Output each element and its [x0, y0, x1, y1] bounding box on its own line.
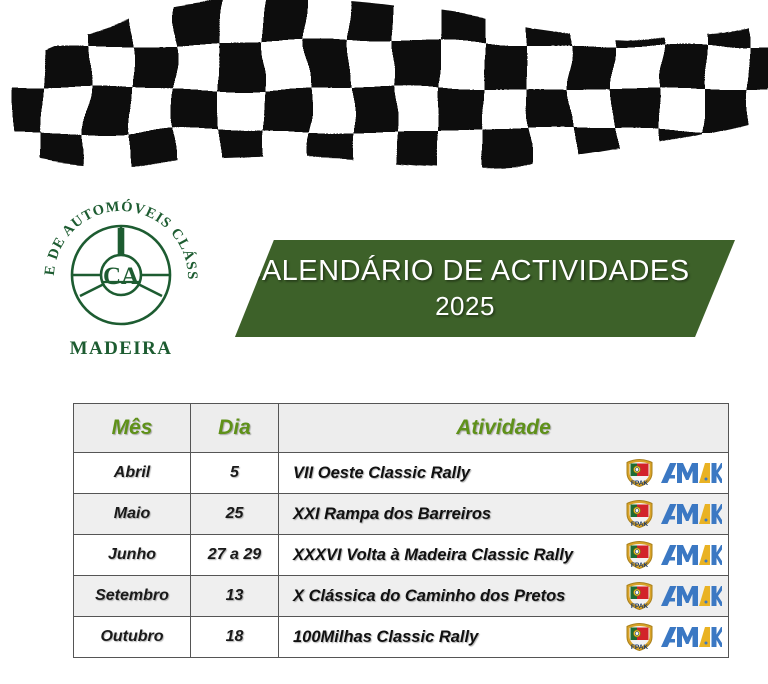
fpak-logo: FPAK: [626, 582, 653, 610]
checkered-flag-icon: [0, 0, 768, 195]
cell-atividade: 100Milhas Classic Rally FPAK: [279, 617, 729, 658]
sanctioning-badges: FPAK: [626, 459, 722, 487]
checkered-flag-banner: [0, 0, 768, 195]
logo-subtitle: MADEIRA: [70, 338, 173, 359]
table-row: Outubro18100Milhas Classic Rally FPAK: [74, 617, 729, 658]
logo-monogram: CA: [103, 263, 139, 290]
cell-mes: Abril: [74, 453, 191, 494]
activity-name: X Clássica do Caminho dos Pretos: [293, 587, 565, 606]
cell-mes: Maio: [74, 494, 191, 535]
table-row: Maio25XXI Rampa dos Barreiros FPAK: [74, 494, 729, 535]
svg-text:FPAK: FPAK: [631, 644, 649, 651]
cell-dia: 25: [191, 494, 279, 535]
activity-row-content: XXI Rampa dos Barreiros FPAK: [293, 500, 722, 528]
fpak-logo: FPAK: [626, 623, 653, 651]
calendar-title-banner: CALENDÁRIO DE ACTIVIDADES 2025: [195, 240, 735, 337]
cell-dia: 18: [191, 617, 279, 658]
clube-automoveis-classicos-madeira-icon: CA CLUBE DE AUTOMÓVEIS CLÁSSICOS MADEIRA: [36, 196, 206, 364]
fpak-logo: FPAK: [626, 541, 653, 569]
sanctioning-badges: FPAK: [626, 623, 722, 651]
activities-table: Mês Dia Atividade Abril5VII Oeste Classi…: [73, 403, 729, 658]
table-row: Junho27 a 29XXXVI Volta à Madeira Classi…: [74, 535, 729, 576]
activity-name: 100Milhas Classic Rally: [293, 628, 478, 647]
cell-atividade: XXI Rampa dos Barreiros FPAK: [279, 494, 729, 535]
activity-row-content: 100Milhas Classic Rally FPAK: [293, 623, 722, 651]
svg-text:FPAK: FPAK: [631, 603, 649, 610]
sanctioning-badges: FPAK: [626, 500, 722, 528]
fpak-logo: FPAK: [626, 500, 653, 528]
page-title: CALENDÁRIO DE ACTIVIDADES: [240, 255, 689, 288]
cell-atividade: X Clássica do Caminho dos Pretos FPAK: [279, 576, 729, 617]
fpak-logo: FPAK: [626, 459, 653, 487]
cell-mes: Junho: [74, 535, 191, 576]
cell-atividade: XXXVI Volta à Madeira Classic Rally FPAK: [279, 535, 729, 576]
cell-mes: Setembro: [74, 576, 191, 617]
column-header-atividade: Atividade: [279, 404, 729, 453]
column-header-mes: Mês: [74, 404, 191, 453]
am1k-logo: [660, 585, 722, 607]
table-row: Abril5VII Oeste Classic Rally FPAK: [74, 453, 729, 494]
page-title-year: 2025: [435, 290, 495, 323]
activity-name: VII Oeste Classic Rally: [293, 464, 470, 483]
svg-text:FPAK: FPAK: [631, 562, 649, 569]
am1k-logo: [660, 544, 722, 566]
cell-dia: 13: [191, 576, 279, 617]
am1k-logo: [660, 503, 722, 525]
cell-mes: Outubro: [74, 617, 191, 658]
cell-atividade: VII Oeste Classic Rally FPAK: [279, 453, 729, 494]
table-row: Setembro13X Clássica do Caminho dos Pret…: [74, 576, 729, 617]
svg-text:FPAK: FPAK: [631, 521, 649, 528]
svg-text:FPAK: FPAK: [631, 480, 649, 487]
cell-dia: 27 a 29: [191, 535, 279, 576]
table-header-row: Mês Dia Atividade: [74, 404, 729, 453]
sanctioning-badges: FPAK: [626, 541, 722, 569]
column-header-dia: Dia: [191, 404, 279, 453]
sanctioning-badges: FPAK: [626, 582, 722, 610]
club-logo: CA CLUBE DE AUTOMÓVEIS CLÁSSICOS MADEIRA: [36, 196, 206, 364]
activity-name: XXI Rampa dos Barreiros: [293, 505, 491, 524]
am1k-logo: [660, 462, 722, 484]
activity-row-content: X Clássica do Caminho dos Pretos FPAK: [293, 582, 722, 610]
activity-name: XXXVI Volta à Madeira Classic Rally: [293, 546, 573, 565]
cell-dia: 5: [191, 453, 279, 494]
activity-row-content: XXXVI Volta à Madeira Classic Rally FPAK: [293, 541, 722, 569]
activity-row-content: VII Oeste Classic Rally FPAK: [293, 459, 722, 487]
am1k-logo: [660, 626, 722, 648]
